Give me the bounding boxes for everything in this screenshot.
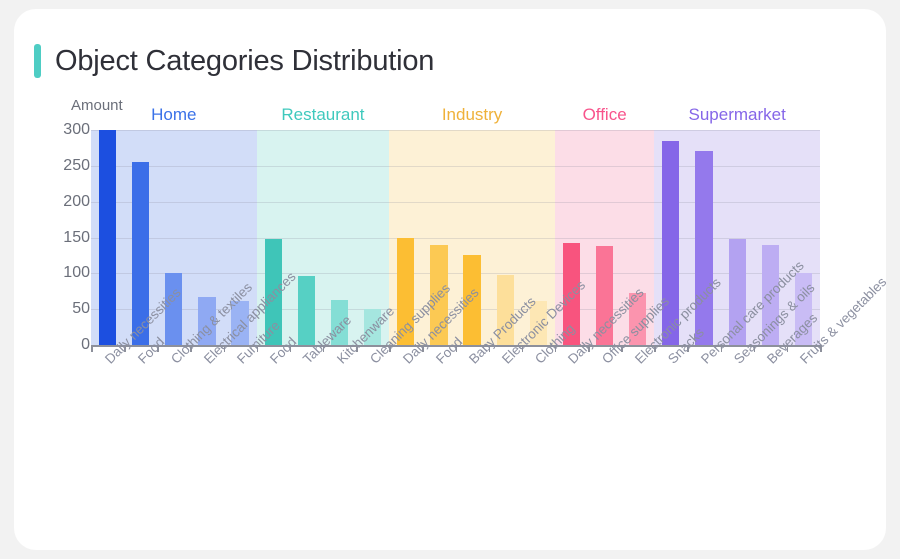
y-tick-label: 150 <box>63 229 90 247</box>
y-axis-ticks: 050100150200250300 <box>44 9 90 550</box>
y-tick-label: 300 <box>63 121 90 139</box>
y-tick-label: 250 <box>63 157 90 175</box>
gridline <box>91 130 820 131</box>
group-label-office: Office <box>583 105 627 125</box>
x-tick <box>91 345 93 352</box>
bar[interactable] <box>298 276 315 345</box>
bar[interactable] <box>695 151 712 345</box>
y-tick-label: 200 <box>63 193 90 211</box>
group-label-home: Home <box>151 105 196 125</box>
bar[interactable] <box>99 130 116 345</box>
chart-card: Object Categories Distribution Amount 05… <box>14 9 886 550</box>
group-label-supermarket: Supermarket <box>688 105 785 125</box>
group-label-restaurant: Restaurant <box>281 105 364 125</box>
y-tick-label: 50 <box>72 300 90 318</box>
y-tick-label: 0 <box>81 336 90 354</box>
group-label-industry: Industry <box>442 105 502 125</box>
y-tick-label: 100 <box>63 264 90 282</box>
chart-plot-area: Amount 050100150200250300 Daily necessit… <box>14 9 886 550</box>
